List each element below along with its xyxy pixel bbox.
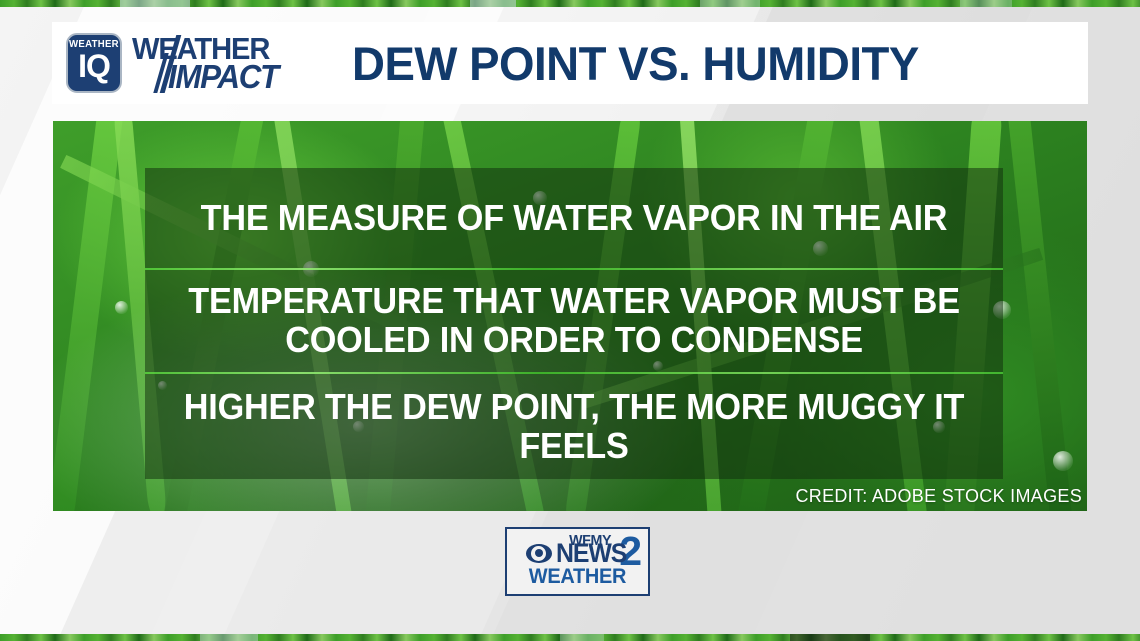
- fact-text-2: TEMPERATURE THAT WATER VAPOR MUST BE COO…: [188, 282, 960, 360]
- fact-block-3: HIGHER THE DEW POINT, THE MORE MUGGY IT …: [145, 374, 1003, 479]
- wfmy-news2-weather-logo: WFMY 2 NEWS WEATHER: [505, 527, 650, 596]
- header-bar: WEATHER IQ WEATHER IMPACT DEW POINT VS. …: [52, 22, 1088, 104]
- station-news-text: NEWS: [556, 540, 626, 567]
- fact-block-1: THE MEASURE OF WATER VAPOR IN THE AIR: [145, 168, 1003, 268]
- weather-iq-initials: IQ: [78, 51, 110, 82]
- page-title: DEW POINT VS. HUMIDITY: [352, 40, 919, 87]
- station-department-text: WEATHER: [511, 566, 645, 587]
- cbs-eye-ring: [531, 546, 546, 561]
- photo-credit: CREDIT: ADOBE STOCK IMAGES: [795, 486, 1082, 507]
- fact-overlay-panel: THE MEASURE OF WATER VAPOR IN THE AIR TE…: [145, 168, 1003, 477]
- wordmark-impact-text: IMPACT: [168, 60, 278, 93]
- weather-graphic-canvas: WEATHER IQ WEATHER IMPACT DEW POINT VS. …: [0, 0, 1140, 641]
- top-edge-strip: [0, 0, 1140, 7]
- photo-panel: THE MEASURE OF WATER VAPOR IN THE AIR TE…: [53, 121, 1087, 511]
- weather-iq-word: WEATHER: [69, 40, 119, 50]
- weather-iq-logo: WEATHER IQ: [66, 33, 122, 93]
- fact-text-3: HIGHER THE DEW POINT, THE MORE MUGGY IT …: [166, 388, 981, 466]
- cbs-eye-pupil: [535, 549, 543, 557]
- fact-block-2: TEMPERATURE THAT WATER VAPOR MUST BE COO…: [145, 270, 1003, 372]
- bottom-edge-strip: [0, 634, 1140, 641]
- cbs-eye-icon: [526, 544, 552, 563]
- fact-text-1: THE MEASURE OF WATER VAPOR IN THE AIR: [201, 199, 948, 238]
- weather-impact-wordmark: WEATHER IMPACT: [132, 31, 328, 95]
